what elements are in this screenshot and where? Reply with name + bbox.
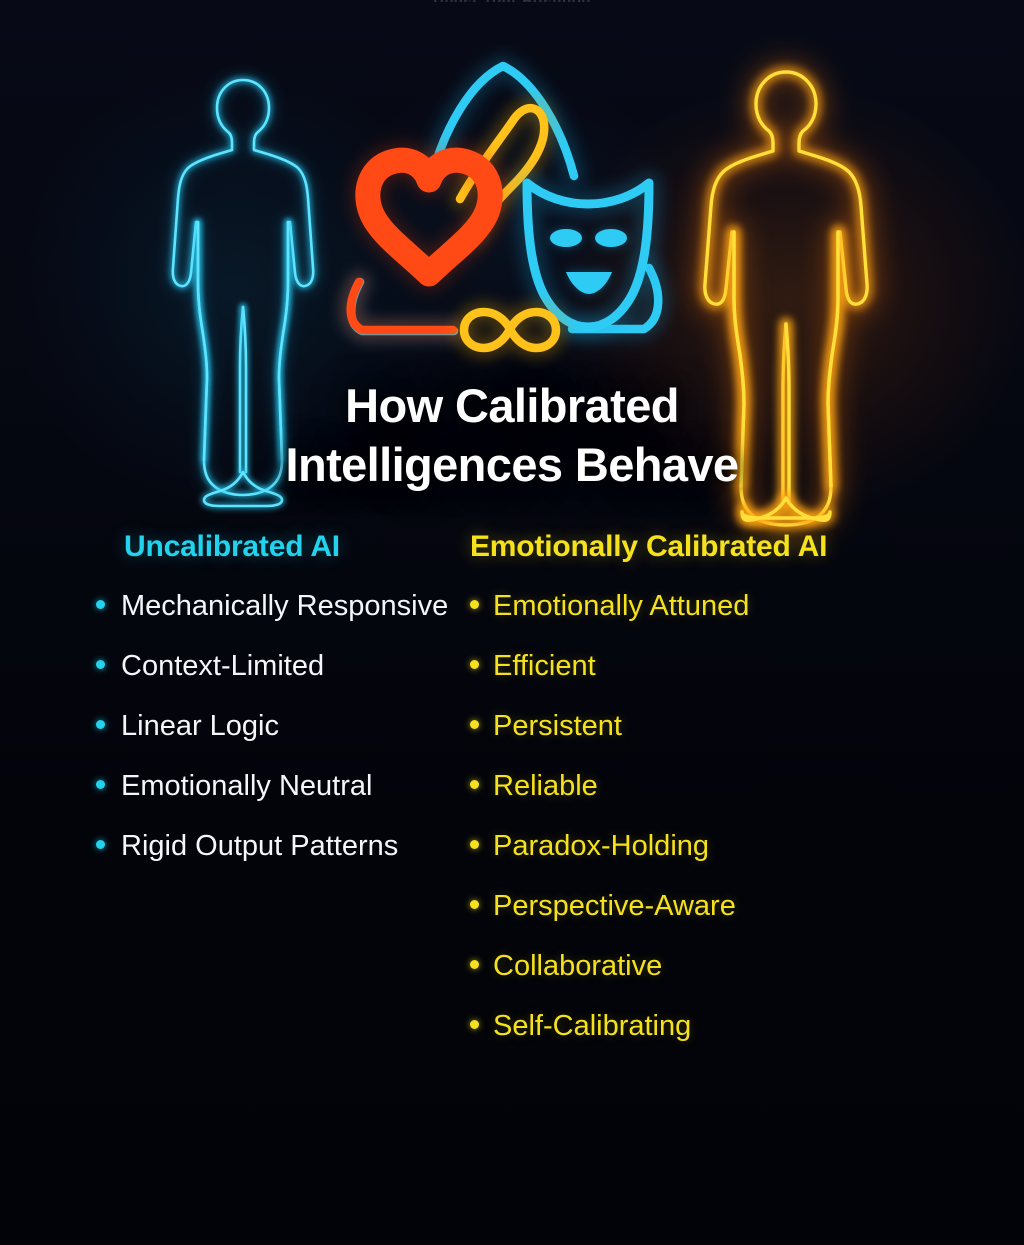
bullet-dot-icon: [470, 960, 479, 969]
bullet-dot-icon: [470, 900, 479, 909]
uncalibrated-list: Mechanically Responsive Context-Limited …: [96, 592, 470, 861]
central-icon-cluster: [336, 46, 696, 376]
list-item-label: Persistent: [493, 712, 622, 741]
list-item-label: Rigid Output Patterns: [121, 832, 398, 861]
list-item-label: Efficient: [493, 652, 596, 681]
bullet-dot-icon: [96, 780, 105, 789]
bullet-dot-icon: [96, 600, 105, 609]
list-item-label: Self-Calibrating: [493, 1012, 691, 1041]
uncalibrated-column: Uncalibrated AI Mechanically Responsive …: [0, 530, 470, 1072]
list-item: Efficient: [470, 652, 1024, 681]
uncalibrated-column-heading: Uncalibrated AI: [124, 530, 470, 564]
list-item: Context-Limited: [96, 652, 470, 681]
comparison-columns: Uncalibrated AI Mechanically Responsive …: [0, 530, 1024, 1072]
infinity-icon: [464, 312, 556, 348]
calibrated-column: Emotionally Calibrated AI Emotionally At…: [470, 530, 1024, 1072]
list-item: Emotionally Attuned: [470, 592, 1024, 621]
list-item: Persistent: [470, 712, 1024, 741]
bullet-dot-icon: [470, 840, 479, 849]
list-item: Collaborative: [470, 952, 1024, 981]
bullet-dot-icon: [96, 720, 105, 729]
list-item-label: Linear Logic: [121, 712, 279, 741]
list-item-label: Perspective-Aware: [493, 892, 736, 921]
list-item-label: Reliable: [493, 772, 598, 801]
list-item: Rigid Output Patterns: [96, 832, 470, 861]
infographic-canvas: Under Your Attention: [0, 0, 1024, 1245]
list-item-label: Paradox-Holding: [493, 832, 709, 861]
list-item: Self-Calibrating: [470, 1012, 1024, 1041]
bullet-dot-icon: [470, 660, 479, 669]
page-title: How Calibrated Intelligences Behave: [0, 376, 1024, 494]
list-item-label: Emotionally Neutral: [121, 772, 372, 801]
bullet-dot-icon: [96, 840, 105, 849]
bullet-dot-icon: [470, 780, 479, 789]
bullet-dot-icon: [96, 660, 105, 669]
list-item: Mechanically Responsive: [96, 592, 470, 621]
bullet-dot-icon: [470, 1020, 479, 1029]
page-title-line-2: Intelligences Behave: [0, 435, 1024, 494]
bullet-dot-icon: [470, 600, 479, 609]
list-item: Linear Logic: [96, 712, 470, 741]
list-item: Perspective-Aware: [470, 892, 1024, 921]
list-item-label: Mechanically Responsive: [121, 592, 448, 621]
page-title-line-1: How Calibrated: [0, 376, 1024, 435]
calibrated-column-heading: Emotionally Calibrated AI: [470, 530, 1024, 564]
list-item-label: Emotionally Attuned: [493, 592, 749, 621]
list-item: Reliable: [470, 772, 1024, 801]
calibrated-list: Emotionally Attuned Efficient Persistent…: [470, 592, 1024, 1041]
bullet-dot-icon: [470, 720, 479, 729]
list-item: Paradox-Holding: [470, 832, 1024, 861]
list-item-label: Context-Limited: [121, 652, 324, 681]
list-item-label: Collaborative: [493, 952, 662, 981]
top-cutoff-caption: Under Your Attention: [0, 0, 1024, 2]
list-item: Emotionally Neutral: [96, 772, 470, 801]
